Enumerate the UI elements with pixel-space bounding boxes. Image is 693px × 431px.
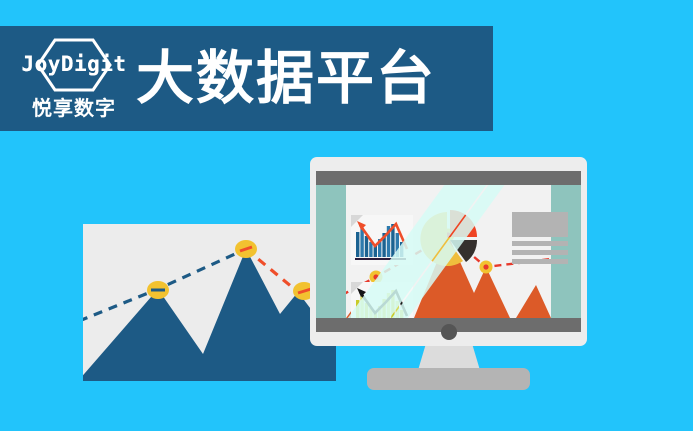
data-point-marker	[147, 281, 169, 299]
placeholder-text-block	[512, 212, 568, 264]
brand-logo: JoyDigit 悦享数字	[14, 36, 134, 122]
placeholder-line	[512, 250, 568, 255]
logo-wordmark: JoyDigit	[14, 52, 134, 76]
trend-arrow-head	[357, 221, 366, 230]
monitor-screen	[316, 185, 581, 318]
poster-canvas: JoyDigit 悦享数字 大数据平台	[0, 0, 693, 431]
trend-arrow-head	[357, 288, 366, 297]
desktop-monitor	[310, 157, 587, 389]
monitor-top-bar	[316, 171, 581, 185]
placeholder-line	[512, 241, 568, 246]
header-banner: JoyDigit 悦享数字 大数据平台	[0, 26, 493, 131]
chart-axis	[355, 258, 406, 260]
mountain-line-chart-panel	[83, 224, 336, 381]
yellow-bar-chart-svg	[351, 282, 413, 318]
page-title: 大数据平台	[136, 47, 436, 109]
yellow-bar-chart-card[interactable]	[351, 282, 413, 318]
pie-slice-red	[450, 210, 477, 237]
logo-chinese-name: 悦享数字	[14, 92, 134, 121]
data-point-marker	[235, 240, 257, 258]
mountain-shape-left	[83, 249, 336, 381]
monitor-camera-dot	[441, 324, 457, 340]
blue-bar-chart-card[interactable]	[351, 215, 413, 265]
monitor-stand-base	[367, 368, 530, 390]
screen-side-panel-left	[316, 185, 346, 318]
pie-chart[interactable]	[418, 209, 480, 271]
placeholder-line	[512, 259, 568, 264]
blue-bar-chart-svg	[351, 215, 413, 265]
data-point-marker	[480, 261, 493, 274]
left-mountain-chart-svg	[83, 224, 336, 381]
placeholder-heading-block	[512, 212, 568, 237]
